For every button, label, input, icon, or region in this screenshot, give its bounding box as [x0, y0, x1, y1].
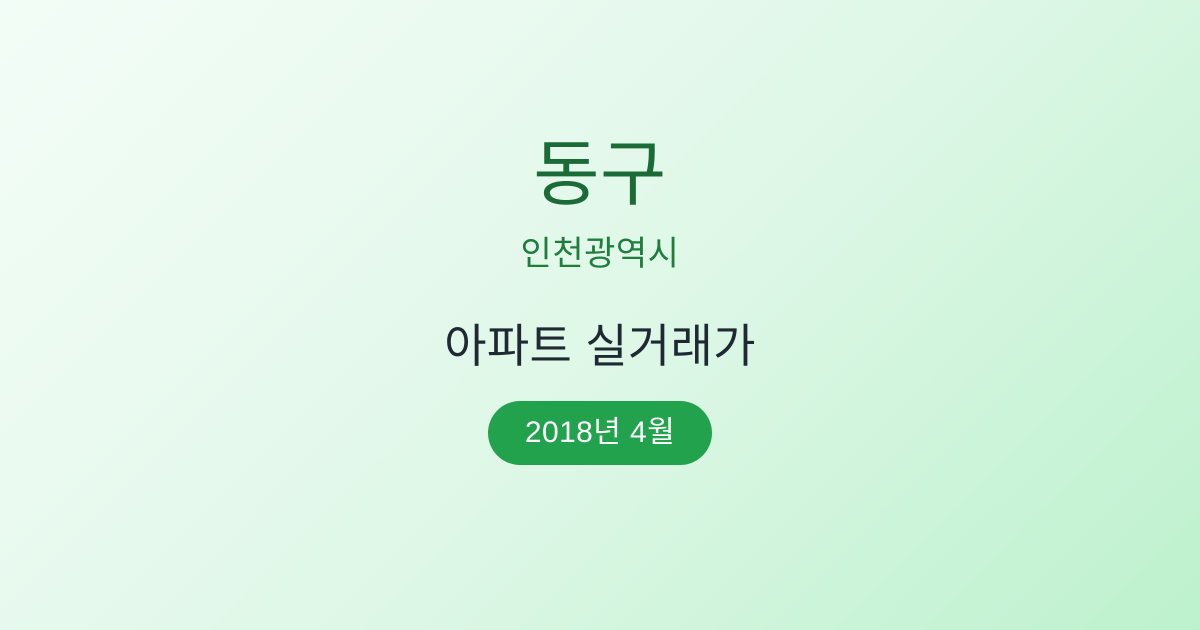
page-title: 아파트 실거래가	[444, 323, 755, 369]
og-preview-card: 동구 인천광역시 아파트 실거래가 2018년 4월	[0, 0, 1200, 630]
region-title: 동구	[533, 139, 666, 211]
region-parent-label: 인천광역시	[521, 237, 680, 271]
period-badge: 2018년 4월	[488, 401, 712, 465]
content-stack: 동구 인천광역시 아파트 실거래가 2018년 4월	[0, 139, 1200, 465]
